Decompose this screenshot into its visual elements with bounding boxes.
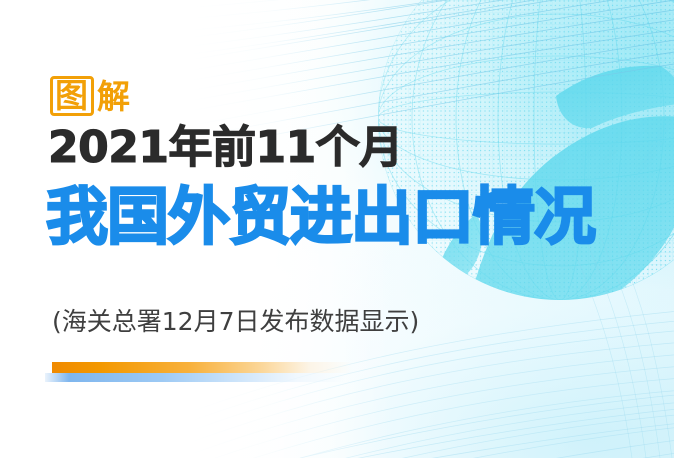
subtitle-source-note: (海关总署12月7日发布数据显示) [52, 309, 419, 334]
headline-line-2: 我国外贸进出口情况 [46, 186, 595, 248]
divider-blue-bar [45, 373, 345, 382]
poster-canvas: 图解 2021年前11个月 我国外贸进出口情况 (海关总署12月7日发布数据显示… [0, 0, 674, 458]
divider-orange-bar [52, 362, 352, 373]
headline-line-1: 2021年前11个月 [48, 126, 403, 170]
tujie-badge-boxed-char: 图 [50, 76, 94, 116]
divider-rules [40, 362, 370, 384]
poster-content: 图解 2021年前11个月 我国外贸进出口情况 (海关总署12月7日发布数据显示… [0, 0, 674, 458]
tujie-badge: 图解 [50, 76, 131, 116]
tujie-badge-plain-char: 解 [97, 80, 131, 113]
